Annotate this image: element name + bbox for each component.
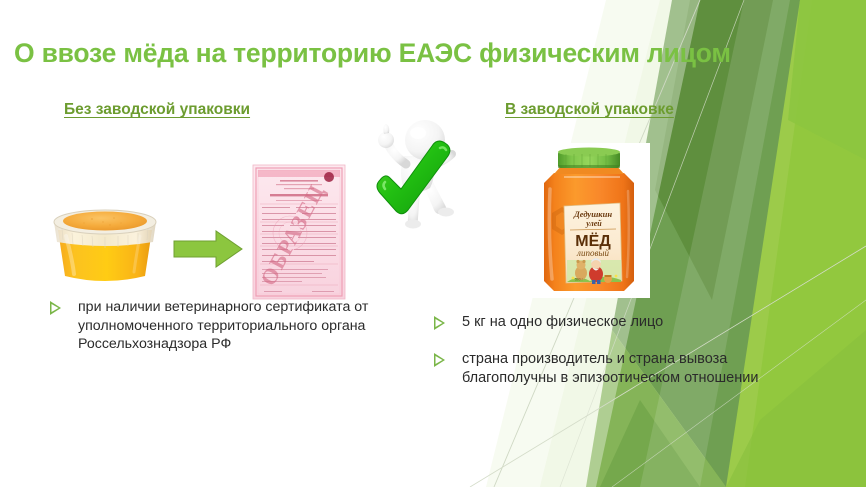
list-item: при наличии ветеринарного сертификата от… — [48, 298, 378, 354]
honey-jar-photo: Дедушкин улей МЁД липовый 500 г — [528, 143, 650, 298]
jar-label-variety: липовый — [576, 248, 609, 258]
bullet-text: 5 кг на одно физическое лицо — [462, 313, 792, 333]
thumbs-up-checkmark-figure — [360, 112, 470, 237]
bullet-text: при наличии ветеринарного сертификата от… — [78, 298, 378, 354]
column-header-in-factory-packaging: В заводской упаковке — [505, 101, 674, 119]
list-item: страна производитель и страна вывоза бла… — [432, 350, 792, 389]
presentation-slide: О ввозе мёда на территорию ЕАЭС физическ… — [0, 0, 866, 487]
jar-label-brand-2: улей — [585, 219, 602, 228]
veterinary-certificate-photo: ОБРАЗЕЦ — [250, 163, 348, 303]
triangle-bullet-icon — [50, 301, 61, 315]
honey-tub-photo — [46, 196, 164, 284]
bullet-list-right: 5 кг на одно физическое лицо страна прои… — [432, 313, 792, 389]
list-item: 5 кг на одно физическое лицо — [432, 313, 792, 333]
green-right-arrow-icon — [172, 229, 244, 269]
bullet-text: страна производитель и страна вывоза бла… — [462, 350, 792, 389]
jar-label-brand: Дедушкин — [573, 209, 612, 219]
svg-text:500 г: 500 г — [575, 278, 584, 282]
bullet-list-left: при наличии ветеринарного сертификата от… — [48, 298, 378, 354]
page-title: О ввозе мёда на территорию ЕАЭС физическ… — [14, 38, 714, 69]
triangle-bullet-icon — [434, 353, 445, 367]
column-header-without-factory-packaging: Без заводской упаковки — [64, 101, 250, 119]
triangle-bullet-icon — [434, 316, 445, 330]
